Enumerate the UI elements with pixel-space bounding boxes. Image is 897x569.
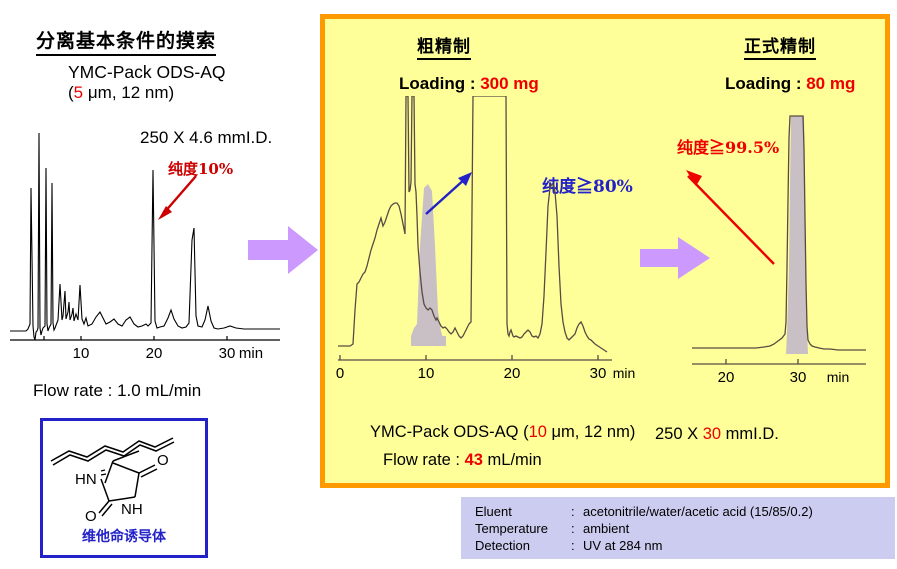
crude-tick-label-0: 0	[336, 365, 344, 382]
structure-label-O-top: O	[157, 452, 169, 469]
structure-label-NH: NH	[121, 501, 143, 518]
prep-flow-prefix: Flow rate :	[383, 451, 465, 469]
prep-flow-value: 43	[465, 451, 483, 469]
crude-tick-label-20: 20	[504, 365, 521, 382]
analytical-tick-label-30: 30	[219, 345, 236, 362]
analytical-tick-label-10: 10	[73, 345, 90, 362]
conditions-row-temperature: Temperature : ambient	[475, 520, 895, 537]
vitamin-derivative-structure-icon: HN O NH O	[43, 421, 205, 527]
conditions-key-detection: Detection	[475, 537, 571, 554]
conditions-key-temperature: Temperature	[475, 520, 571, 537]
crude-tick-label-30: 30	[590, 365, 607, 382]
final-purity-arrow-icon	[686, 170, 774, 264]
analytical-trace	[10, 133, 280, 340]
conditions-box: Eluent : acetonitrile/water/acetic acid …	[461, 497, 895, 559]
structure-caption: 维他命诱导体	[43, 526, 205, 546]
final-loading: Loading : 80 mg	[725, 74, 855, 94]
final-tick-label-30: 30	[790, 369, 807, 386]
prep-dimension-line: 250 X 30 mmI.D.	[655, 425, 779, 444]
conditions-value-temperature: ambient	[583, 520, 629, 537]
conditions-key-eluent: Eluent	[475, 503, 571, 520]
final-axis-unit: min	[827, 369, 850, 385]
prep-column-prefix: YMC-Pack ODS-AQ (	[370, 423, 529, 441]
crude-tick-label-10: 10	[418, 365, 435, 382]
crude-prep-chromatogram: 0 10 20 30 min	[336, 96, 636, 396]
final-tick-label-20: 20	[718, 369, 735, 386]
crude-collected-band	[411, 336, 446, 346]
prep-column-line: YMC-Pack ODS-AQ (10 μm, 12 nm)	[370, 423, 635, 442]
final-loading-label: Loading :	[725, 74, 806, 93]
final-panel-title: 正式精制	[744, 32, 816, 60]
structure-label-O-bottom: O	[85, 508, 97, 525]
analytical-tick-label-20: 20	[146, 345, 163, 362]
structure-label-HN: HN	[75, 471, 97, 488]
conditions-value-detection: UV at 284 nm	[583, 537, 663, 554]
crude-panel-title: 粗精制	[417, 32, 471, 60]
conditions-row-detection: Detection : UV at 284 nm	[475, 537, 895, 554]
conditions-sep-temperature: :	[571, 520, 583, 537]
crude-loading-value: 300 mg	[480, 74, 539, 93]
left-flow-rate: Flow rate : 1.0 mL/min	[33, 381, 201, 401]
prep-column-particle: 10	[529, 423, 547, 441]
crude-axis-unit: min	[613, 365, 636, 381]
crude-purity-arrow-icon	[426, 172, 472, 214]
structure-box: HN O NH O 维他命诱导体	[40, 418, 208, 558]
conditions-row-eluent: Eluent : acetonitrile/water/acetic acid …	[475, 503, 895, 520]
left-purity-arrow-icon	[158, 176, 196, 220]
prep-column-suffix: μm, 12 nm)	[547, 423, 635, 441]
prep-dimension-value: 30	[703, 425, 721, 443]
left-panel-title: 分离基本条件的摸索	[36, 26, 216, 56]
final-loading-value: 80 mg	[806, 74, 855, 93]
crude-loading-label: Loading :	[399, 74, 480, 93]
prep-dimension-prefix: 250 X	[655, 425, 703, 443]
final-prep-chromatogram: 20 30 min	[686, 108, 886, 388]
analytical-axis-unit: min	[239, 345, 263, 362]
prep-dimension-suffix: mmI.D.	[721, 425, 779, 443]
prep-flow-suffix: mL/min	[483, 451, 542, 469]
crude-loading: Loading : 300 mg	[399, 74, 539, 94]
conditions-sep-eluent: :	[571, 503, 583, 520]
crude-trace	[338, 96, 607, 352]
left-column-name: YMC-Pack ODS-AQ	[68, 62, 226, 83]
conditions-value-eluent: acetonitrile/water/acetic acid (15/85/0.…	[583, 503, 813, 520]
final-trace	[692, 116, 866, 350]
conditions-sep-detection: :	[571, 537, 583, 554]
prep-flow-rate-line: Flow rate : 43 mL/min	[383, 451, 542, 470]
flow-arrow-1-icon	[248, 218, 320, 282]
